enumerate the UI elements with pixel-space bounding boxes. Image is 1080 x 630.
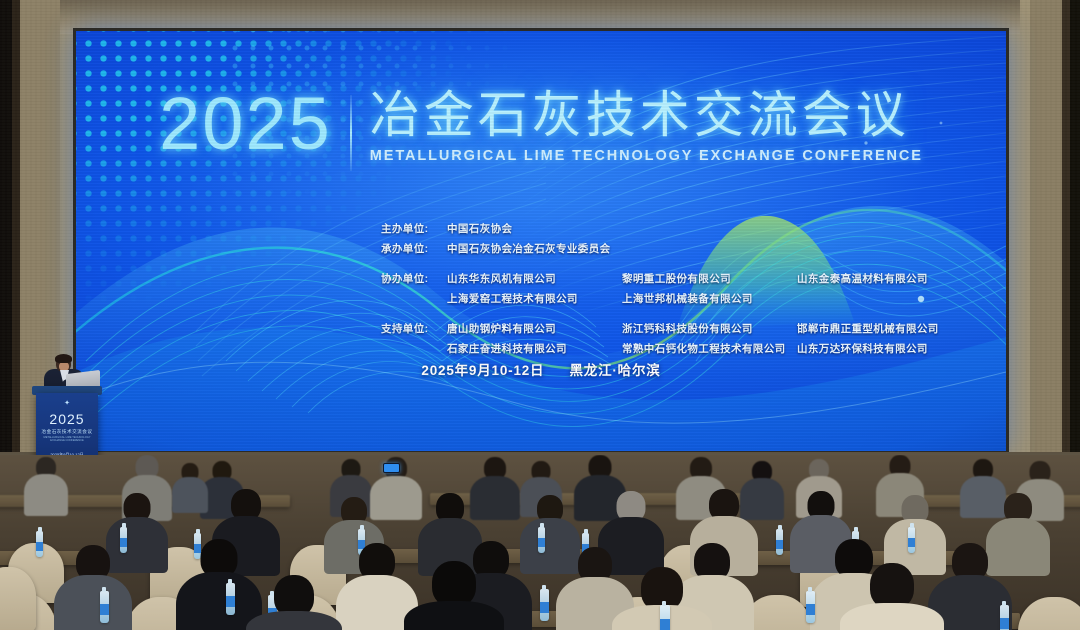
organizer-label [381,339,447,359]
organizer-label: 支持单位: [381,319,447,339]
organizer-name: 中国石灰协会冶金石灰专业委员会 [447,239,622,259]
organizer-name [622,239,797,259]
organizer-row: 支持单位: 唐山助钢炉料有限公司 浙江钙科科技股份有限公司 邯郸市鼎正重型机械有… [381,319,939,339]
water-bottle [1000,605,1009,630]
event-date: 2025年9月10-12日 [421,363,544,378]
audience-member [24,457,68,513]
organizer-name: 邯郸市鼎正重型机械有限公司 [797,319,939,339]
organizer-name: 唐山助钢炉料有限公司 [447,319,622,339]
water-bottle [36,531,43,557]
water-bottle [538,527,545,553]
organizer-row: 上海爱窑工程技术有限公司 上海世邦机械装备有限公司 [381,289,939,309]
organizer-row: 主办单位: 中国石灰协会 [381,219,939,239]
podium-year: 2025 [36,411,98,427]
organizer-list: 主办单位: 中国石灰协会 承办单位: 中国石灰协会冶金石灰专业委员会 协办单位:… [381,219,939,360]
organizer-label: 承办单位: [381,239,447,259]
organizer-name: 上海世邦机械装备有限公司 [622,289,797,309]
headline-en-title: METALLURGICAL LIME TECHNOLOGY EXCHANGE C… [370,148,923,164]
spacer [381,260,939,269]
headline-cn-title: 冶金石灰技术交流会议 [370,89,923,142]
screen-headline: 2025 冶金石灰技术交流会议 METALLURGICAL LIME TECHN… [76,89,1006,171]
headline-year: 2025 [159,89,332,159]
podium-cn-title: 冶金石灰技术交流会议 [36,429,98,435]
audience-member [404,561,504,630]
organizer-name: 山东万达环保科技有限公司 [797,339,928,359]
organizer-name: 山东金泰高温材料有限公司 [797,269,928,289]
organizer-name: 浙江钙科科技股份有限公司 [622,319,797,339]
organizer-name: 黎明重工股份有限公司 [622,269,797,289]
organizer-name: 中国石灰协会 [447,219,622,239]
organizer-name: 石家庄奋进科技有限公司 [447,339,622,359]
water-bottle [908,527,915,553]
organizer-label [381,289,447,309]
organizer-label: 协办单位: [381,269,447,289]
organizer-name: 山东华东风机有限公司 [447,269,622,289]
audience-area [0,455,1080,630]
water-bottle [540,589,549,621]
smartphone [383,463,400,473]
audience-member [54,545,132,630]
organizer-row: 石家庄奋进科技有限公司 常熟中石钙化物工程技术有限公司 山东万达环保科技有限公司 [381,339,939,359]
podium-en-title: METALLURGICAL LIME TECHNOLOGY EXCHANGE C… [36,436,98,442]
speaker-hair [55,354,72,363]
audience-member [840,563,944,630]
water-bottle [806,591,815,623]
audience-member [172,463,208,509]
headline-divider [350,95,352,171]
audience-member [246,575,342,630]
organizer-name [622,219,797,239]
water-bottle [100,591,109,623]
spacer [381,310,939,319]
conference-photo: 2025 冶金石灰技术交流会议 METALLURGICAL LIME TECHN… [0,0,1080,630]
speaker-face [59,362,69,371]
organizer-name: 常熟中石钙化物工程技术有限公司 [622,339,797,359]
event-dateline: 2025年9月10-12日 黑龙江·哈尔滨 [76,359,1006,379]
organizer-row: 协办单位: 山东华东风机有限公司 黎明重工股份有限公司 山东金泰高温材料有限公司 [381,269,939,289]
organizer-label: 主办单位: [381,219,447,239]
water-bottle [660,605,670,630]
water-bottle [226,583,235,615]
water-bottle [776,529,783,555]
led-screen: 2025 冶金石灰技术交流会议 METALLURGICAL LIME TECHN… [76,31,1006,451]
podium-logo-icon: ✦ [36,399,98,407]
organizer-row: 承办单位: 中国石灰协会冶金石灰专业委员会 [381,239,939,259]
event-location: 黑龙江·哈尔滨 [569,363,660,378]
organizer-name: 上海爱窑工程技术有限公司 [447,289,622,309]
